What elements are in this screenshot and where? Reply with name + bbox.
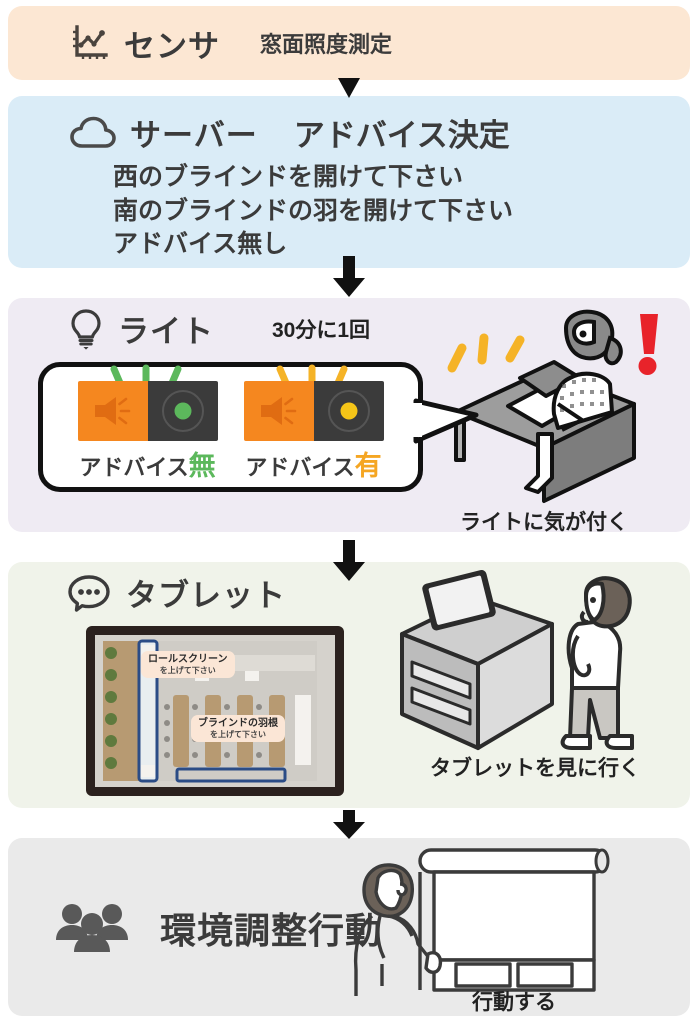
line-chart-icon: [70, 23, 110, 63]
sensor-title: センサ: [124, 21, 220, 66]
screen-callout-blind: ブラインドの羽根 を上げて下さい: [191, 715, 285, 742]
light-scene-caption: ライトに気が付く: [460, 506, 628, 536]
server-header: サーバー アドバイス決定: [8, 96, 690, 155]
tablet-device[interactable]: ロールスクリーン を上げて下さい ブラインドの羽根 を上げて下さい: [86, 626, 344, 796]
indicator-dot-yellow: [340, 403, 357, 420]
notice-rays-icon: [452, 338, 520, 368]
device-label: アドバイス有: [244, 444, 384, 483]
callout-line1: ロールスクリーン: [148, 654, 228, 666]
arrow-light-to-tablet: [332, 540, 366, 582]
process-flow-diagram: センサ 窓面照度測定 サーバー アドバイス決定 西のブラインドを開けて下さい 南…: [0, 0, 698, 1024]
lightbulb-icon: [68, 308, 104, 350]
device-label-mark: 有: [355, 451, 382, 481]
device-label-mark: 無: [189, 451, 216, 481]
advice-item: アドバイス無し: [113, 228, 690, 262]
device-left-panel: [244, 381, 314, 441]
section-action: 環境調整行動: [8, 838, 690, 1016]
device-right-panel: [314, 381, 384, 441]
device-label-prefix: アドバイス: [79, 455, 188, 480]
server-subtitle: アドバイス決定: [294, 110, 510, 155]
scene-person-adjusting-blind: 行動する: [342, 846, 642, 1018]
sensor-header: センサ 窓面照度測定: [8, 6, 690, 80]
beacon-icon: [85, 389, 141, 433]
light-device-callout: アドバイス無: [38, 362, 423, 492]
light-title: ライト: [118, 306, 214, 351]
device-label-prefix: アドバイス: [245, 455, 354, 480]
device-right-panel: [148, 381, 218, 441]
callout-line2: を上げて下さい: [198, 730, 278, 739]
sensor-subtitle: 窓面照度測定: [260, 27, 392, 59]
arrow-server-to-light: [332, 256, 366, 298]
device-list: アドバイス無: [43, 367, 418, 483]
people-group-icon: [54, 900, 132, 956]
action-header: 環境調整行動: [54, 900, 382, 956]
screen-callout-roller: ロールスクリーン を上げて下さい: [141, 651, 235, 678]
section-server: サーバー アドバイス決定 西のブラインドを開けて下さい 南のブラインドの羽を開け…: [8, 96, 690, 268]
section-sensor: センサ 窓面照度測定: [8, 6, 690, 80]
advice-item: 西のブラインドを開けて下さい: [113, 161, 690, 195]
section-light: ライト 30分に1回: [8, 298, 690, 532]
section-tablet: タブレット: [8, 562, 690, 808]
beacon-icon: [251, 389, 307, 433]
server-title: サーバー: [130, 110, 258, 155]
tablet-scene-caption: タブレットを見に行く: [430, 752, 640, 782]
device-label: アドバイス無: [78, 444, 218, 483]
device-no-advice: アドバイス無: [78, 381, 218, 483]
device-has-advice: アドバイス有: [244, 381, 384, 483]
advice-item: 南のブラインドの羽を開けて下さい: [113, 195, 690, 229]
server-advice-list: 西のブラインドを開けて下さい 南のブラインドの羽を開けて下さい アドバイス無し: [113, 161, 690, 262]
alert-exclamation-icon: [639, 314, 659, 375]
callout-line2: を上げて下さい: [148, 666, 228, 675]
callout-tail: [416, 397, 478, 445]
tablet-title: タブレット: [126, 570, 286, 615]
device-left-panel: [78, 381, 148, 441]
scene-person-going-to-tablet: タブレットを見に行く: [382, 576, 672, 776]
action-scene-caption: 行動する: [472, 986, 556, 1016]
arrow-tablet-to-action: [332, 810, 366, 840]
callout-line1: ブラインドの羽根: [198, 718, 278, 730]
arrow-sensor-to-server: [334, 78, 364, 100]
device-body: [244, 381, 384, 441]
light-frequency: 30分に1回: [272, 314, 370, 344]
speech-bubble-icon: [66, 573, 112, 613]
device-body: [78, 381, 218, 441]
tablet-screen[interactable]: ロールスクリーン を上げて下さい ブラインドの羽根 を上げて下さい: [95, 635, 335, 787]
indicator-dot-green: [174, 403, 191, 420]
cloud-icon: [70, 116, 116, 150]
